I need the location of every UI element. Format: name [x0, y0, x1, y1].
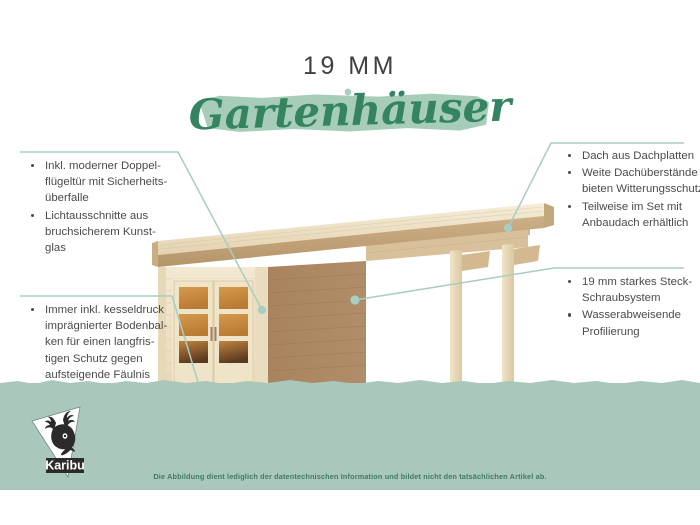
callout-left-bottom-list: Immer inkl. kesseldruckimprägnierter Bod… — [29, 302, 181, 383]
callout-item: Lichtausschnitte ausbruchsicherem Kunst-… — [29, 208, 181, 257]
callout-item: Weite Dachüberständebieten Witterungssch… — [566, 165, 700, 197]
infographic-canvas: 19 MM Gartenhäuser Inkl. moderner Doppel… — [0, 0, 700, 525]
callout-left-bottom: Immer inkl. kesseldruckimprägnierter Bod… — [29, 302, 181, 384]
disclaimer-text: Die Abbildung dient lediglich der datent… — [0, 472, 700, 481]
callout-left-top: Inkl. moderner Doppel-flügeltür mit Sich… — [29, 158, 181, 257]
callout-item: Dach aus Dachplatten — [566, 148, 700, 164]
callout-item: Immer inkl. kesseldruckimprägnierter Bod… — [29, 302, 181, 383]
callout-item: Teilweise im Set mitAnbaudach erhältlich — [566, 199, 700, 231]
callout-right-top-list: Dach aus DachplattenWeite Dachüberstände… — [566, 148, 700, 231]
karibu-logo[interactable]: Karibu — [18, 403, 114, 483]
callout-right-bottom: 19 mm starkes Steck-SchraubsystemWassera… — [566, 274, 700, 341]
headline-thickness: 19 MM — [0, 52, 700, 81]
connector-dot-wall — [350, 295, 359, 304]
callout-item: Inkl. moderner Doppel-flügeltür mit Sich… — [29, 158, 181, 207]
connector-dot-door — [258, 306, 266, 314]
karibu-wordmark: Karibu — [45, 459, 85, 473]
callout-item: WasserabweisendeProfilierung — [566, 307, 700, 339]
callout-item: 19 mm starkes Steck-Schraubsystem — [566, 274, 700, 306]
callout-right-top: Dach aus DachplattenWeite Dachüberstände… — [566, 148, 700, 232]
connector-dot-roof — [504, 224, 512, 232]
callout-right-bottom-list: 19 mm starkes Steck-SchraubsystemWassera… — [566, 274, 700, 340]
callout-left-top-list: Inkl. moderner Doppel-flügeltür mit Sich… — [29, 158, 181, 256]
